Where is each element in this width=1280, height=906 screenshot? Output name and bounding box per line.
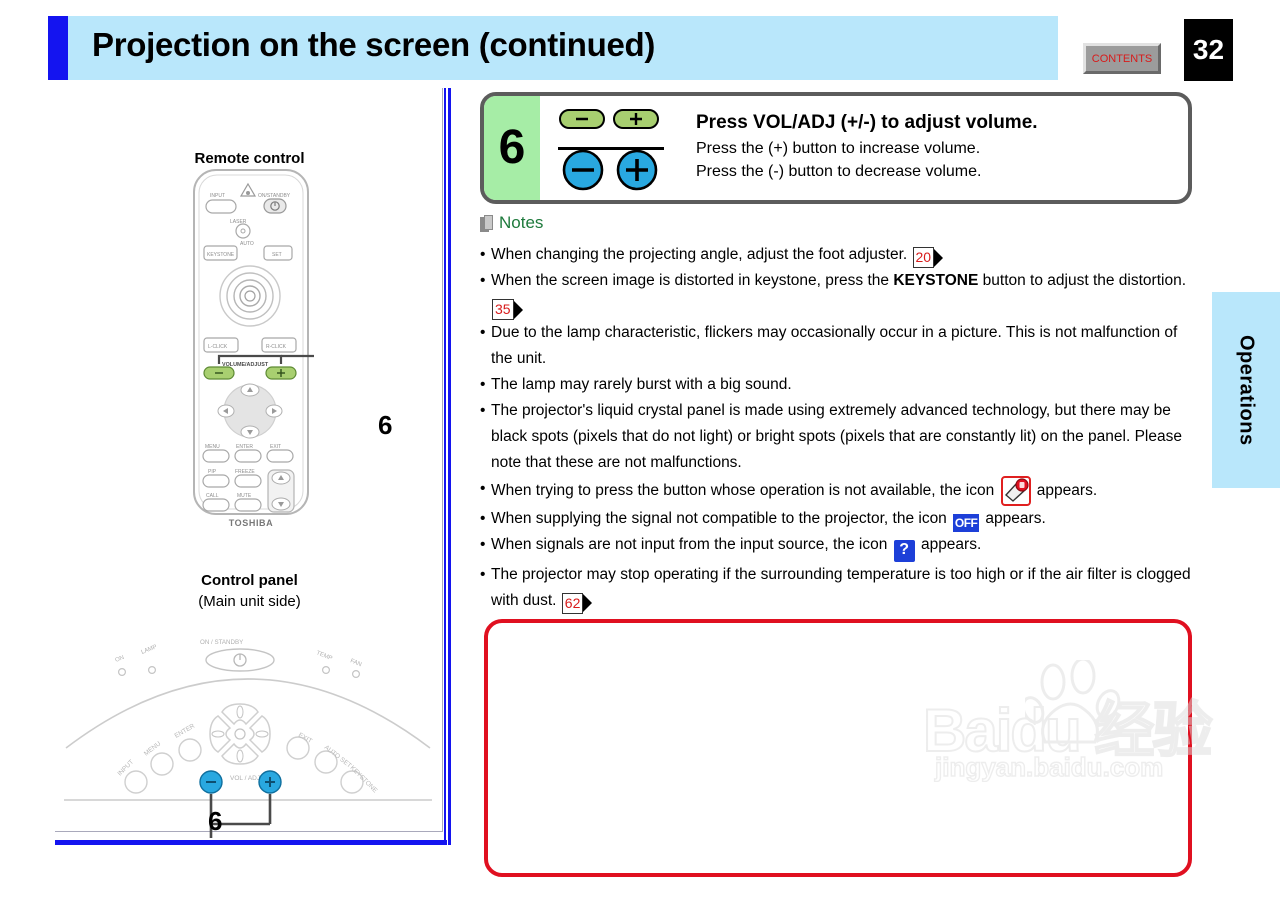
step-number-badge: 6 <box>484 96 540 200</box>
control-panel-subheading: (Main unit side) <box>48 593 451 610</box>
remote-control-heading: Remote control <box>48 150 451 167</box>
page-number-label: 32 <box>1193 34 1224 66</box>
svg-text:INPUT: INPUT <box>210 193 225 199</box>
svg-text:SET: SET <box>272 252 282 258</box>
step-line-1: Press the (+) button to increase volume. <box>696 138 1038 161</box>
svg-text:EXIT: EXIT <box>270 444 281 450</box>
svg-text:ON: ON <box>115 655 126 664</box>
no-signal-question-icon: ? <box>894 540 915 562</box>
svg-text:VOL / ADJ: VOL / ADJ <box>230 775 260 782</box>
remote-control-svg: INPUT ON/STANDBY LASER KEYSTONE AUTO SET <box>188 166 314 518</box>
empty-red-callout-box <box>484 619 1192 877</box>
page-reference-arrow-icon <box>514 301 523 319</box>
svg-text:MENU: MENU <box>205 444 220 450</box>
note-bullet: • <box>480 242 491 268</box>
note-text: When changing the projecting angle, adju… <box>491 242 1194 268</box>
svg-text:KEYSTONE: KEYSTONE <box>207 252 235 258</box>
contents-button[interactable]: CONTENTS <box>1083 43 1161 74</box>
note-bullet: • <box>480 532 491 561</box>
no-operation-icon <box>1001 476 1031 506</box>
note-text: When trying to press the button whose op… <box>491 476 1194 506</box>
svg-text:ENTER: ENTER <box>236 444 253 450</box>
off-signal-icon: OFF <box>953 514 979 532</box>
note-text: The lamp may rarely burst with a big sou… <box>491 372 1194 398</box>
svg-text:ON/STANDBY: ON/STANDBY <box>258 193 291 199</box>
step-text-block: Press VOL/ADJ (+/-) to adjust volume. Pr… <box>696 112 1038 183</box>
note-lcd-panel: •The projector's liquid crystal panel is… <box>480 398 1194 476</box>
page-reference-number: 20 <box>913 247 935 268</box>
callout-number-control-panel: 6 <box>208 806 222 837</box>
side-tab-operations-label: Operations <box>1235 335 1258 446</box>
step-6-box: 6 Pre <box>480 92 1192 204</box>
notes-header: Notes <box>480 213 543 233</box>
svg-text:PIP: PIP <box>208 469 217 475</box>
note-keystone: •When the screen image is distorted in k… <box>480 268 1194 320</box>
step-number-label: 6 <box>499 124 526 172</box>
svg-text:FAN: FAN <box>349 658 362 668</box>
svg-text:L-CLICK: L-CLICK <box>208 344 228 350</box>
page-reference-arrow-icon <box>934 249 943 267</box>
page-reference-link[interactable]: 20 <box>913 247 944 268</box>
step-button-icons-svg <box>558 106 666 194</box>
page-reference-number: 35 <box>492 299 514 320</box>
notes-label: Notes <box>499 213 543 233</box>
note-text: The projector's liquid crystal panel is … <box>491 398 1194 476</box>
svg-text:FREEZE: FREEZE <box>235 469 255 475</box>
svg-text:R-CLICK: R-CLICK <box>266 344 287 350</box>
control-panel-illustration: ON LAMP ON / STANDBY TEMP FAN <box>58 618 438 843</box>
control-panel-svg: ON LAMP ON / STANDBY TEMP FAN <box>58 618 438 838</box>
step-title: Press VOL/ADJ (+/-) to adjust volume. <box>696 112 1038 134</box>
page-reference-link[interactable]: 62 <box>562 593 593 614</box>
note-bullet: • <box>480 506 491 532</box>
page-reference-arrow-icon <box>583 594 592 612</box>
note-text: When supplying the signal not compatible… <box>491 506 1194 532</box>
right-content-column: 6 Pre <box>480 92 1195 204</box>
left-illustration-panel: Remote control INPUT ON/STANDBY LASER <box>48 88 451 852</box>
page-reference-number: 62 <box>562 593 584 614</box>
header-blue-accent <box>48 16 68 80</box>
note-bullet: • <box>480 398 491 476</box>
note-bullet: • <box>480 476 491 506</box>
page-title: Projection on the screen (continued) <box>92 26 655 64</box>
page-number-badge: 32 <box>1184 19 1233 81</box>
step-button-icons <box>558 106 666 194</box>
note-text: Due to the lamp characteristic, flickers… <box>491 320 1194 372</box>
svg-text:CALL: CALL <box>206 493 219 499</box>
page-reference-link[interactable]: 35 <box>492 299 523 320</box>
svg-text:AUTO: AUTO <box>240 241 254 247</box>
note-text: When signals are not input from the inpu… <box>491 532 1194 561</box>
note-bullet: • <box>480 562 491 614</box>
step-line-2: Press the (-) button to decrease volume. <box>696 161 1038 184</box>
callout-number-remote: 6 <box>378 410 392 441</box>
svg-text:MUTE: MUTE <box>237 493 252 499</box>
side-tab-operations[interactable]: Operations <box>1212 292 1280 488</box>
left-panel-blue-right-rule <box>444 88 451 845</box>
note-foot-adjuster: •When changing the projecting angle, adj… <box>480 242 1194 268</box>
note-question-icon: •When signals are not input from the inp… <box>480 532 1194 561</box>
note-text: The projector may stop operating if the … <box>491 562 1194 614</box>
step-icon-divider <box>558 147 664 150</box>
remote-control-illustration: INPUT ON/STANDBY LASER KEYSTONE AUTO SET <box>188 166 314 523</box>
svg-text:LAMP: LAMP <box>141 644 158 656</box>
note-no-operation-icon: •When trying to press the button whose o… <box>480 476 1194 506</box>
svg-text:TEMP: TEMP <box>315 650 333 662</box>
contents-button-label: CONTENTS <box>1092 53 1153 65</box>
note-bullet: • <box>480 320 491 372</box>
note-bullet: • <box>480 268 491 320</box>
control-panel-heading: Control panel <box>48 572 451 589</box>
note-flicker: •Due to the lamp characteristic, flicker… <box>480 320 1194 372</box>
svg-text:ON / STANDBY: ON / STANDBY <box>200 639 243 646</box>
note-emphasis: KEYSTONE <box>893 272 978 289</box>
note-off-icon: •When supplying the signal not compatibl… <box>480 506 1194 532</box>
note-text: When the screen image is distorted in ke… <box>491 268 1194 320</box>
note-temperature: •The projector may stop operating if the… <box>480 562 1194 614</box>
note-lamp-burst: •The lamp may rarely burst with a big so… <box>480 372 1194 398</box>
page-root: Projection on the screen (continued) CON… <box>0 0 1280 906</box>
svg-text:ENTER: ENTER <box>174 723 197 740</box>
notes-list: •When changing the projecting angle, adj… <box>480 242 1194 614</box>
note-bullet: • <box>480 372 491 398</box>
notes-icon <box>480 215 493 232</box>
